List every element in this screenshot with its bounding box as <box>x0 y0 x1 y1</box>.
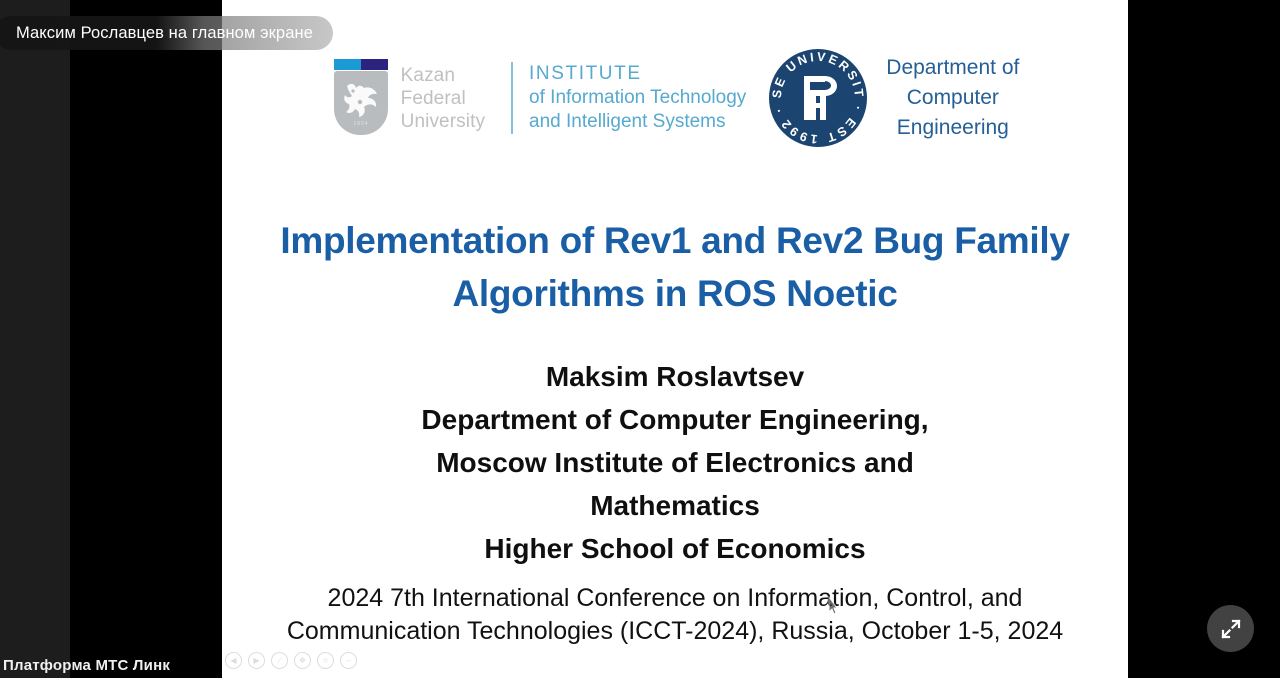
sidebar-strip <box>0 0 70 678</box>
platform-label: Платформа МТС Линк <box>3 657 170 674</box>
hse-seal-icon: HSE UNIVERSITY · EST 1992 · <box>768 48 868 148</box>
kfu-name-line1: Kazan <box>401 64 485 87</box>
next-slide-icon[interactable]: ▶ <box>248 652 265 669</box>
conference-line2: Communication Technologies (ICCT-2024), … <box>232 615 1118 648</box>
iitis-line3: and Intelligent Systems <box>529 110 746 134</box>
author-line: Maksim Roslavtsev <box>242 355 1108 398</box>
author-line: Moscow Institute of Electronics and <box>242 441 1108 484</box>
letterbox-right <box>1128 0 1280 678</box>
slide-logo-row: 1804 Kazan Federal University INSTITUTE … <box>222 44 1128 152</box>
platform-label-text: Платформа МТС Линк <box>3 657 170 674</box>
slide-title: Implementation of Rev1 and Rev2 Bug Fami… <box>242 214 1108 320</box>
author-line: Department of Computer Engineering, <box>242 398 1108 441</box>
video-conference-screen: 1804 Kazan Federal University INSTITUTE … <box>0 0 1280 678</box>
iitis-name: INSTITUTE of Information Technology and … <box>529 62 746 134</box>
zoom-out-tool-icon[interactable]: – <box>340 652 357 669</box>
hse-department-line2: Computer <box>886 83 1019 113</box>
presenter-name-badge: Максим Рославцев на главном экране <box>0 16 333 50</box>
conference-line1: 2024 7th International Conference on Inf… <box>232 582 1118 615</box>
logo-divider <box>511 62 513 134</box>
slide-viewer-toolbar[interactable]: ◀ ▶ ∕ ❖ ⌾ – <box>225 652 357 669</box>
letterbox-left <box>70 0 222 678</box>
expand-arrows-icon <box>1220 618 1242 640</box>
kfu-name: Kazan Federal University <box>401 64 485 133</box>
author-line: Mathematics <box>242 484 1108 527</box>
kfu-name-line2: Federal <box>401 87 485 110</box>
hse-logo: HSE UNIVERSITY · EST 1992 · <box>768 48 1019 148</box>
hse-department: Department of Computer Engineering <box>886 53 1019 143</box>
presenter-name-text: Максим Рославцев на главном экране <box>16 24 313 43</box>
pen-tool-icon[interactable]: ∕ <box>271 652 288 669</box>
kfu-logo: 1804 Kazan Federal University <box>331 59 485 137</box>
svg-text:1804: 1804 <box>353 121 368 127</box>
expand-fullscreen-button[interactable] <box>1207 605 1254 652</box>
kfu-name-line3: University <box>401 110 485 133</box>
kfu-shield-icon: 1804 <box>331 59 391 137</box>
iitis-line2: of Information Technology <box>529 86 746 110</box>
stamp-tool-icon[interactable]: ❖ <box>294 652 311 669</box>
iitis-line1: INSTITUTE <box>529 62 746 86</box>
slide-conference-info: 2024 7th International Conference on Inf… <box>232 582 1118 648</box>
slide-title-line1: Implementation of Rev1 and Rev2 Bug Fami… <box>242 214 1108 267</box>
slide-author-block: Maksim Roslavtsev Department of Computer… <box>242 355 1108 570</box>
slide-title-line2: Algorithms in ROS Noetic <box>242 267 1108 320</box>
hse-department-line1: Department of <box>886 53 1019 83</box>
shared-slide[interactable]: 1804 Kazan Federal University INSTITUTE … <box>222 0 1128 678</box>
previous-slide-icon[interactable]: ◀ <box>225 652 242 669</box>
zoom-tool-icon[interactable]: ⌾ <box>317 652 334 669</box>
hse-department-line3: Engineering <box>886 113 1019 143</box>
author-line: Higher School of Economics <box>242 527 1108 570</box>
